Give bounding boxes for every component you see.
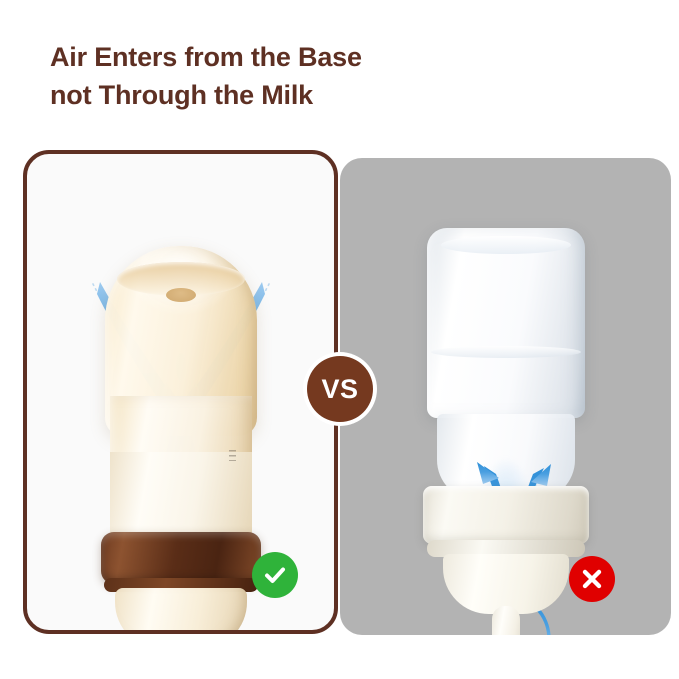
check-icon [261, 561, 289, 589]
good-bottle-collar-ring [101, 532, 261, 584]
page-title-line-2: not Through the Milk [50, 76, 630, 114]
good-bottle-illustration [91, 246, 271, 616]
good-bottle-vent [166, 288, 196, 302]
good-bottle-body [110, 396, 252, 538]
bad-verdict-badge [569, 556, 615, 602]
vs-badge-label: VS [321, 374, 358, 405]
bad-bottle-collar-ring [423, 486, 589, 544]
bad-bottle-base-section [427, 228, 585, 418]
bad-bottle-teat-base [443, 554, 569, 614]
bad-bottle-illustration [411, 228, 601, 623]
vs-badge: VS [307, 356, 373, 422]
bad-panel [340, 158, 671, 635]
good-verdict-badge [252, 552, 298, 598]
good-bottle-measurement-marks [229, 450, 236, 461]
bad-bottle-base-rim [441, 236, 571, 254]
page-title-line-1: Air Enters from the Base [50, 38, 630, 76]
good-bottle-teat-base [115, 588, 247, 634]
good-bottle-milk-fill [110, 452, 252, 538]
page-title: Air Enters from the Base not Through the… [50, 38, 630, 115]
bad-bottle-teat [492, 606, 520, 635]
bad-bottle-seam [431, 346, 581, 358]
cross-icon [579, 566, 605, 592]
